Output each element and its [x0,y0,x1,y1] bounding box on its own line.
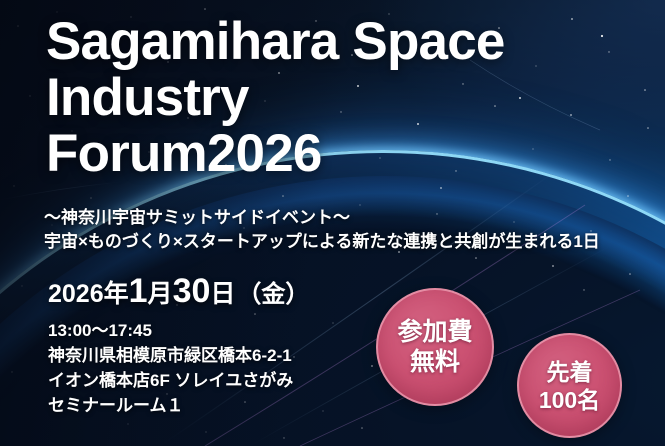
venue-building: イオン橋本店6F ソレイユさがみ [48,368,293,393]
date-year: 2026年 [48,274,129,310]
title-line-2: Industry [46,70,626,126]
poster-title: Sagamihara Space Industry Forum2026 [46,14,626,182]
date-month-unit: 月 [148,274,173,310]
event-details: 13:00〜17:45 神奈川県相模原市緑区橋本6-2-1 イオン橋本店6F ソ… [48,318,293,418]
venue-room: セミナールーム１ [48,393,293,418]
event-date: 2026年 1 月 30 日 （金） [48,272,309,311]
venue-address: 神奈川県相模原市緑区橋本6-2-1 [48,343,293,368]
badge-fee-line-2: 無料 [410,347,460,377]
badge-capacity-line-1: 先着 [547,358,593,386]
date-day-unit: 日 [210,274,235,310]
title-line-3: Forum2026 [46,126,626,182]
badge-fee-line-1: 参加費 [397,317,472,347]
subtitle-line-2: 宇宙×ものづくり×スタートアップによる新たな連携と共創が生まれる1日 [44,230,644,254]
badge-capacity: 先着 100名 [517,333,622,438]
badge-admission-fee: 参加費 無料 [376,288,494,406]
event-time: 13:00〜17:45 [48,318,293,343]
event-poster: Sagamihara Space Industry Forum2026 〜神奈川… [0,0,665,446]
date-day-number: 30 [173,272,211,311]
badge-capacity-line-2: 100名 [539,386,600,414]
poster-subtitle: 〜神奈川宇宙サミットサイドイベント〜 宇宙×ものづくり×スタートアップによる新た… [44,206,644,254]
date-month-number: 1 [129,272,148,311]
subtitle-line-1: 〜神奈川宇宙サミットサイドイベント〜 [44,206,644,230]
date-weekday: （金） [237,274,309,309]
title-line-1: Sagamihara Space [46,14,626,70]
